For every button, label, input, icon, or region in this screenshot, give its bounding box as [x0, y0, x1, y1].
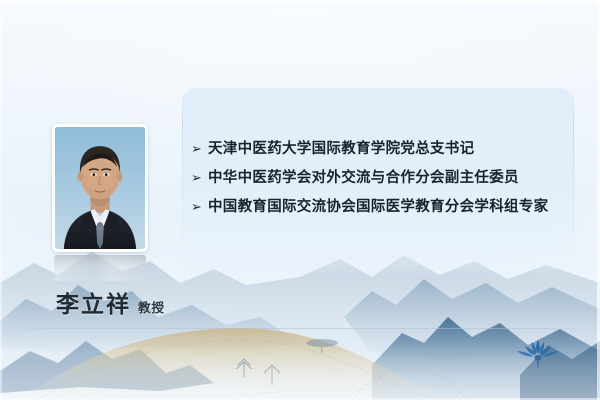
horizon-rule	[0, 328, 600, 329]
presentation-slide: ➢ 天津中医药大学国际教育学院党总支书记 ➢ 中华中医药学会对外交流与合作分会副…	[0, 0, 600, 400]
speaker-name: 李立祥	[56, 285, 131, 319]
arrow-bullet-icon: ➢	[191, 198, 208, 216]
list-item: ➢ 中国教育国际交流协会国际医学教育分会学科组专家	[191, 198, 571, 216]
avatar	[55, 127, 145, 249]
lotus-logo-icon	[512, 338, 564, 368]
credentials-list: ➢ 天津中医药大学国际教育学院党总支书记 ➢ 中华中医药学会对外交流与合作分会副…	[191, 140, 571, 216]
list-item: ➢ 天津中医药大学国际教育学院党总支书记	[191, 140, 571, 158]
arrow-bullet-icon: ➢	[191, 140, 208, 158]
credential-text: 天津中医药大学国际教育学院党总支书记	[208, 140, 571, 158]
slide-frame-left	[0, 0, 2, 400]
credential-text: 中华中医药学会对外交流与合作分会副主任委员	[208, 169, 571, 187]
photo-reflection	[54, 255, 146, 281]
slide-frame-top	[0, 0, 600, 3]
speaker-title: 教授	[138, 297, 165, 316]
credential-text: 中国教育国际交流协会国际医学教育分会学科组专家	[208, 198, 571, 216]
arrow-bullet-icon: ➢	[191, 169, 208, 187]
speaker-photo-frame	[52, 124, 148, 252]
speaker-name-line: 李立祥 教授	[56, 285, 165, 319]
list-item: ➢ 中华中医药学会对外交流与合作分会副主任委员	[191, 169, 571, 187]
panel-left-edge	[182, 92, 183, 260]
panel-right-edge	[573, 92, 574, 260]
